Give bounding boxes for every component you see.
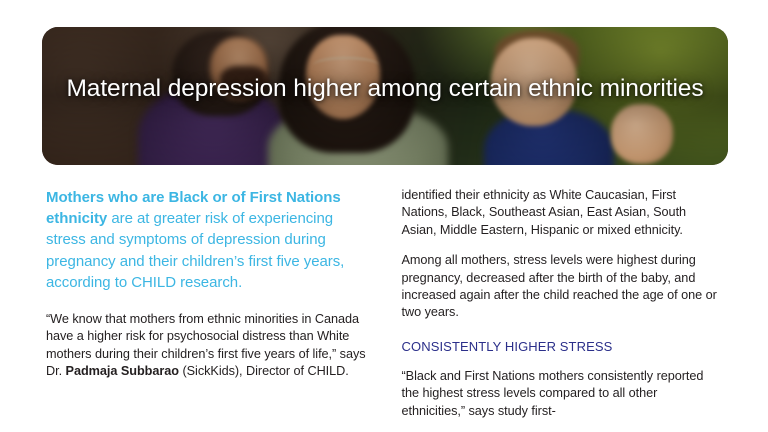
quote-after-text: (SickKids), Director of CHILD. bbox=[179, 364, 349, 378]
lead-paragraph: Mothers who are Black or of First Nation… bbox=[46, 187, 367, 293]
section-subheading: CONSISTENTLY HIGHER STRESS bbox=[402, 338, 723, 355]
hero-title: Maternal depression higher among certain… bbox=[42, 74, 728, 104]
right-paragraph-2: Among all mothers, stress levels were hi… bbox=[402, 252, 723, 322]
quote-attribution-name: Padmaja Subbarao bbox=[66, 364, 179, 378]
right-paragraph-1: identified their ethnicity as White Cauc… bbox=[402, 187, 723, 239]
article-columns: Mothers who are Black or of First Nation… bbox=[46, 187, 722, 420]
quote-paragraph: “We know that mothers from ethnic minori… bbox=[46, 311, 367, 381]
right-column: identified their ethnicity as White Cauc… bbox=[402, 187, 723, 420]
hero-banner: Maternal depression higher among certain… bbox=[42, 27, 728, 165]
left-column: Mothers who are Black or of First Nation… bbox=[46, 187, 367, 420]
right-paragraph-3: “Black and First Nations mothers consist… bbox=[402, 368, 723, 420]
